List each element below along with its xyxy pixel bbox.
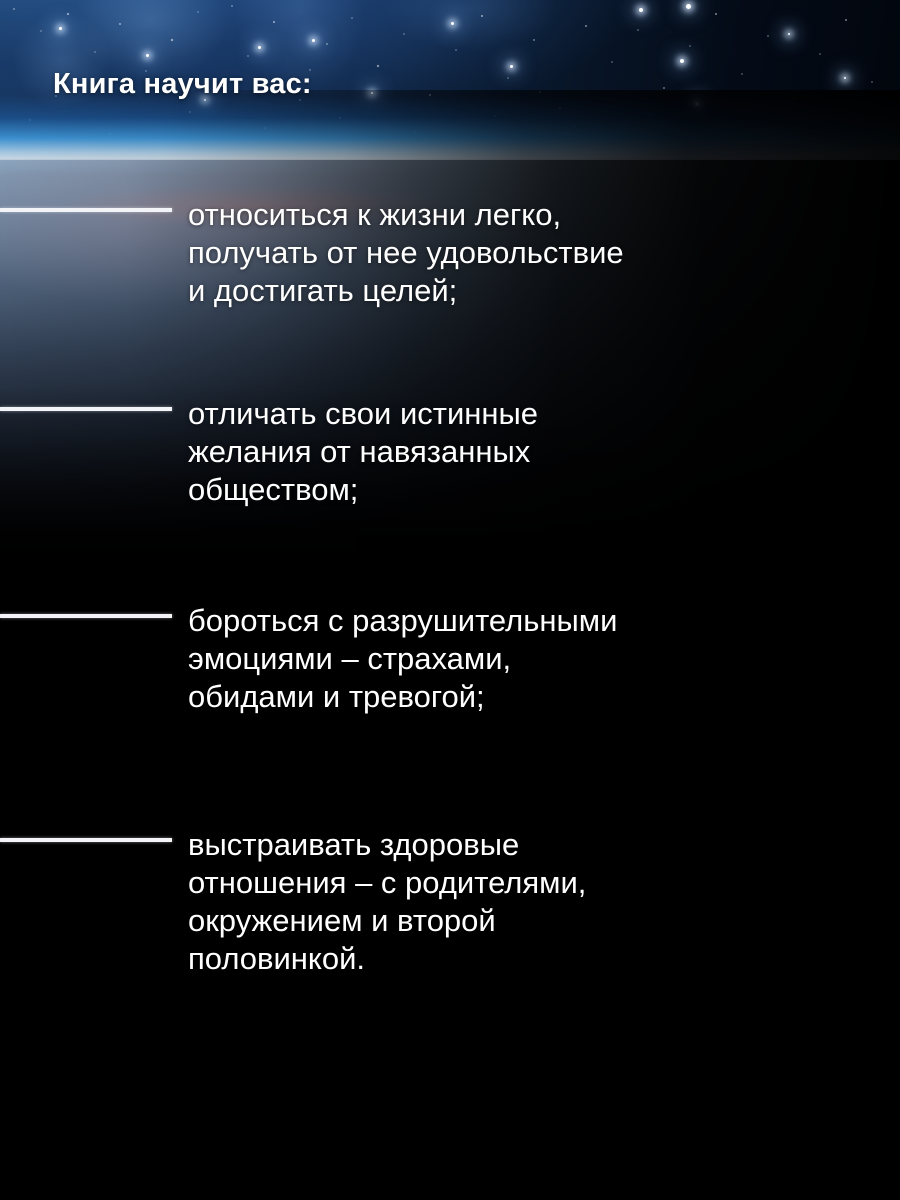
- list-item-line: выстраивать здоровые: [188, 826, 878, 864]
- list-item-line: получать от нее удовольствие: [188, 234, 878, 272]
- bullet-dash-2: [0, 407, 172, 411]
- list-item-text: отличать свои истинныежелания от навязан…: [188, 395, 878, 509]
- list-item-line: эмоциями – страхами,: [188, 640, 878, 678]
- list-item-text: бороться с разрушительнымиэмоциями – стр…: [188, 602, 878, 716]
- list-item-line: окружением и второй: [188, 902, 878, 940]
- list-item-line: отношения – с родителями,: [188, 864, 878, 902]
- bullet-dash-3: [0, 614, 172, 618]
- list-item-line: обществом;: [188, 471, 878, 509]
- page-title: Книга научит вас:: [53, 68, 312, 101]
- list-item-line: обидами и тревогой;: [188, 678, 878, 716]
- slide-content: Книга научит вас: относиться к жизни лег…: [0, 0, 900, 1200]
- list-item-text: относиться к жизни легко,получать от нее…: [188, 196, 878, 310]
- bullet-dash-1: [0, 208, 172, 212]
- list-item-line: половинкой.: [188, 940, 878, 978]
- list-item-line: бороться с разрушительными: [188, 602, 878, 640]
- list-item-line: желания от навязанных: [188, 433, 878, 471]
- list-item-line: и достигать целей;: [188, 272, 878, 310]
- list-item-line: относиться к жизни легко,: [188, 196, 878, 234]
- bullet-dash-4: [0, 838, 172, 842]
- slide-root: Книга научит вас: относиться к жизни лег…: [0, 0, 900, 1200]
- list-item-text: выстраивать здоровыеотношения – с родите…: [188, 826, 878, 978]
- list-item-line: отличать свои истинные: [188, 395, 878, 433]
